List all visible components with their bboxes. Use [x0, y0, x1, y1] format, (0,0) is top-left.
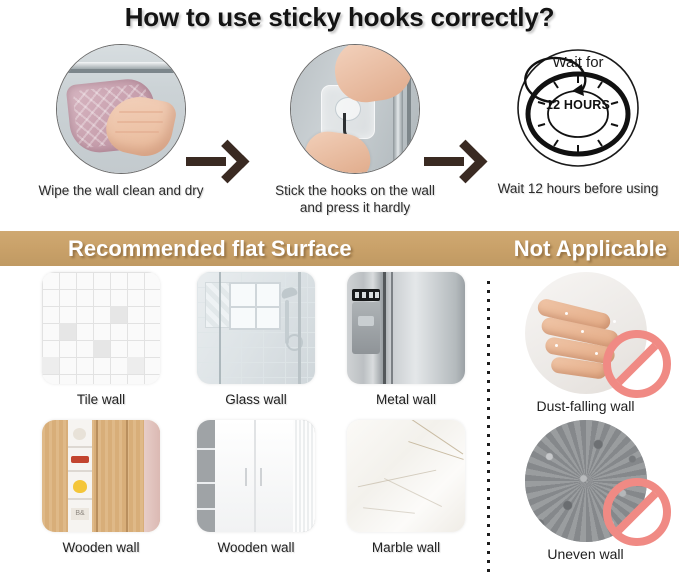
- page-title: How to use sticky hooks correctly?: [0, 2, 679, 33]
- glass-wall-thumbnail: [197, 272, 315, 384]
- tile-wall-thumbnail: [42, 272, 160, 384]
- infographic-page: How to use sticky hooks correctly? Wipe …: [0, 0, 679, 581]
- white-wardrobe-thumbnail: [197, 420, 315, 532]
- banner-right-label: Not Applicable: [514, 236, 667, 262]
- surface-label: Tile wall: [12, 392, 190, 407]
- surface-item-dust-falling-wall: Dust-falling wall: [492, 272, 679, 414]
- step-2-caption-line1: Stick the hooks on the wall: [248, 182, 462, 199]
- step-3-caption: Wait 12 hours before using: [480, 180, 676, 197]
- surface-item-wooden-wall-2: Wooden wall: [176, 420, 336, 555]
- metal-wall-thumbnail: [347, 272, 465, 384]
- step-2-caption-line2: and press it hardly: [248, 199, 462, 216]
- surface-item-tile-wall: Tile wall: [12, 272, 190, 407]
- surface-item-glass-wall: Glass wall: [176, 272, 336, 407]
- step-2-image: [290, 44, 420, 174]
- surface-label: Glass wall: [176, 392, 336, 407]
- banner-left-label: Recommended flat Surface: [68, 236, 352, 262]
- surface-label: Metal wall: [326, 392, 486, 407]
- prohibition-sign-icon: [603, 330, 671, 398]
- wooden-wall-thumbnail: B&: [42, 420, 160, 532]
- surface-label: Wooden wall: [12, 540, 190, 555]
- step-3: Wait for 12 HOURS Wait 12 hours before u…: [480, 44, 676, 197]
- section-banner: Recommended flat Surface Not Applicable: [0, 231, 679, 266]
- marble-wall-thumbnail: [347, 420, 465, 532]
- arrow-right-icon: [186, 144, 248, 178]
- surface-label: Marble wall: [326, 540, 486, 555]
- surface-item-metal-wall: Metal wall: [326, 272, 486, 407]
- surface-label: Dust-falling wall: [492, 398, 679, 414]
- step-2-caption: Stick the hooks on the wall and press it…: [248, 182, 462, 216]
- surface-label: Uneven wall: [492, 546, 679, 562]
- surface-item-uneven-wall: Uneven wall: [492, 420, 679, 562]
- step-1-image: [56, 44, 186, 174]
- clock-top-label: Wait for: [514, 54, 642, 71]
- arrow-right-icon: [424, 144, 486, 178]
- prohibition-sign-icon: [603, 478, 671, 546]
- surface-item-marble-wall: Marble wall: [326, 420, 486, 555]
- surface-label: Wooden wall: [176, 540, 336, 555]
- clock-icon: Wait for 12 HOURS: [514, 44, 642, 172]
- steps-section: Wipe the wall clean and dry Stick the ho…: [0, 44, 679, 214]
- step-1-caption: Wipe the wall clean and dry: [14, 182, 228, 199]
- clock-center-label: 12 HOURS: [514, 98, 642, 112]
- step-2: Stick the hooks on the wall and press it…: [248, 44, 462, 216]
- not-applicable-column: Dust-falling wall Uneven wall: [492, 272, 679, 581]
- surface-item-wooden-wall-1: B& Wooden wall: [12, 420, 190, 555]
